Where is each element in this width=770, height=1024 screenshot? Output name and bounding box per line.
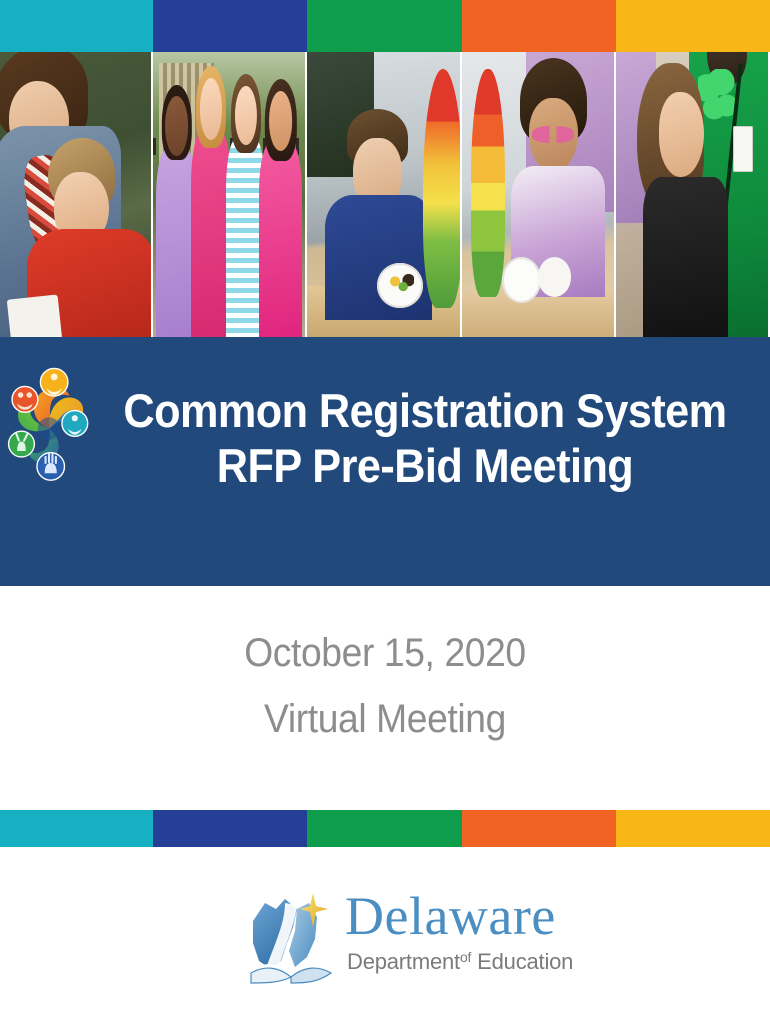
photo-four-children-playground	[153, 52, 305, 337]
subtitle-block: October 15, 2020 Virtual Meeting	[27, 620, 743, 752]
delaware-wordmark: Delaware	[345, 889, 556, 943]
photo-teacher-and-toddler	[0, 52, 151, 337]
delaware-department-of-education-logo: Delaware Departmentof Education	[245, 885, 535, 997]
title-band: Common Registration System RFP Pre-Bid M…	[0, 337, 770, 586]
photo-girl-with-fruit-kebab	[462, 52, 614, 337]
early-childhood-pinwheel-logo	[6, 361, 92, 491]
bottom-brand-color-bar	[0, 810, 770, 847]
top-brand-color-bar	[0, 0, 770, 52]
meeting-location: Virtual Meeting	[27, 686, 743, 752]
color-segment-orange	[462, 0, 616, 52]
color-segment-teal	[0, 810, 153, 847]
color-segment-blue	[153, 810, 307, 847]
photo-girl-looking-up-at-adult	[616, 52, 768, 337]
color-segment-yellow	[616, 0, 770, 52]
color-segment-orange	[462, 810, 616, 847]
color-segment-yellow	[616, 810, 770, 847]
delaware-state-book-star-icon	[245, 887, 341, 991]
education-word: Education	[477, 949, 573, 974]
title-slide: Common Registration System RFP Pre-Bid M…	[0, 0, 770, 1024]
of-word: of	[460, 949, 471, 965]
color-segment-green	[307, 810, 462, 847]
department-of-education-label: Departmentof Education	[347, 949, 573, 975]
student-photo-banner	[0, 52, 770, 337]
page-title: Common Registration System RFP Pre-Bid M…	[122, 383, 727, 494]
color-segment-blue	[153, 0, 307, 52]
title-line-2: RFP Pre-Bid Meeting	[122, 438, 727, 493]
photo-boy-with-fruit-kebab	[307, 52, 460, 337]
meeting-date: October 15, 2020	[27, 620, 743, 686]
color-segment-teal	[0, 0, 153, 52]
department-word: Department	[347, 949, 460, 974]
title-line-1: Common Registration System	[122, 383, 727, 438]
color-segment-green	[307, 0, 462, 52]
